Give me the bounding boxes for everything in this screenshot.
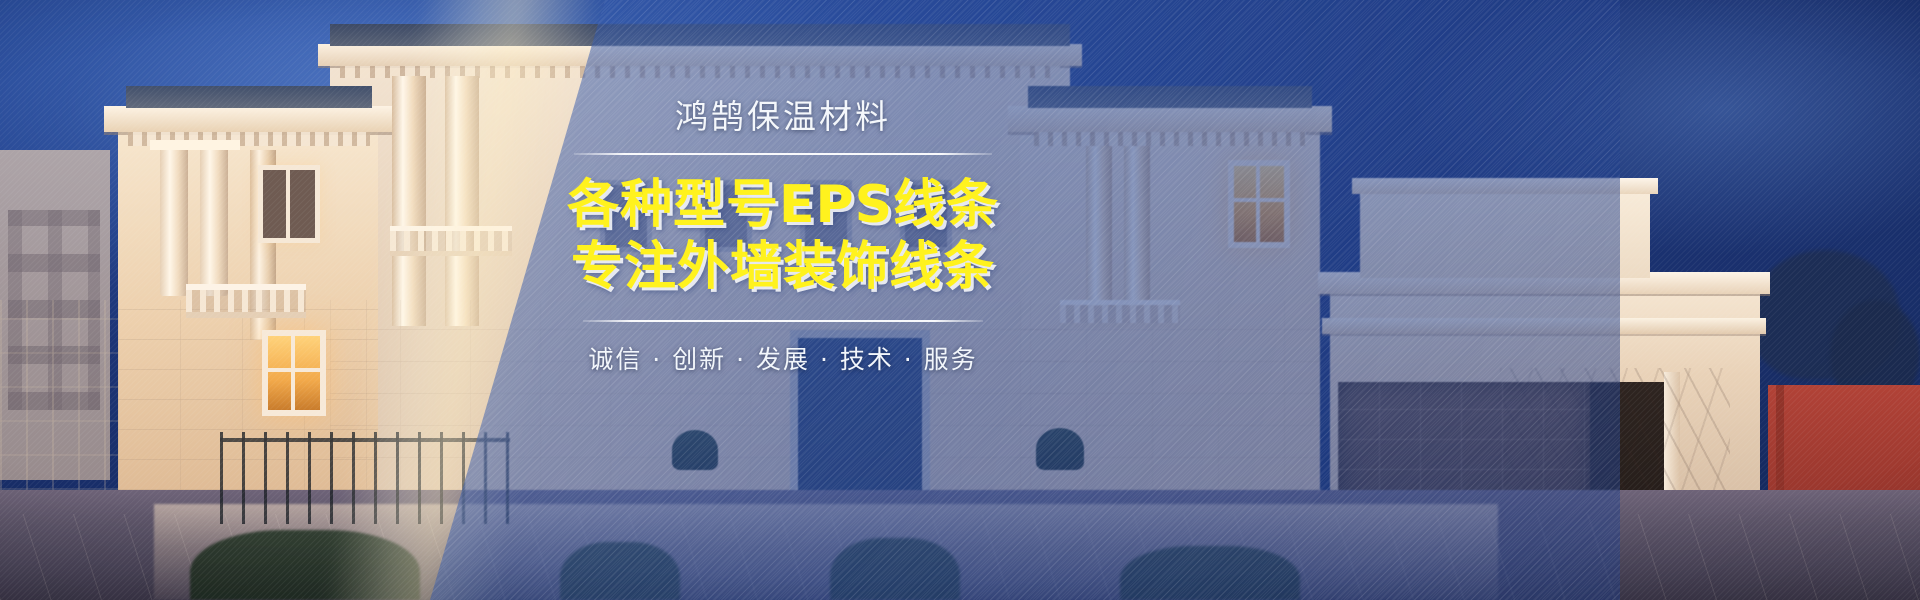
- banner-text-block: 鸿鹄保温材料 各种型号EPS线条 专注外墙装饰线条 诚信 · 创新 · 发展 ·…: [548, 96, 1018, 376]
- scaffolding: [0, 300, 120, 490]
- divider-lower: [583, 320, 983, 322]
- villa-left-wing-cornice: [104, 106, 392, 132]
- headline-line-1: 各种型号EPS线条: [548, 175, 1018, 236]
- promo-banner: 鸿鹄保温材料 各种型号EPS线条 专注外墙装饰线条 诚信 · 创新 · 发展 ·…: [0, 0, 1920, 600]
- tagline: 诚信 · 创新 · 发展 · 技术 · 服务: [548, 340, 1018, 376]
- window-lit-left-mullion-v: [291, 336, 295, 410]
- column-left-1: [160, 146, 188, 296]
- divider-upper: [574, 153, 992, 155]
- headline-line-2: 专注外墙装饰线条: [548, 237, 1018, 298]
- column-capital-left: [150, 140, 240, 150]
- window-lit-left-mullion-h: [268, 368, 320, 372]
- company-name: 鸿鹄保温材料: [548, 96, 1018, 137]
- headline: 各种型号EPS线条 专注外墙装饰线条: [548, 175, 1018, 298]
- column-left-2: [200, 146, 228, 296]
- villa-left-wing-roof: [126, 86, 372, 108]
- window-upper-left-mullion: [286, 170, 290, 238]
- balustrade-left: [186, 284, 306, 318]
